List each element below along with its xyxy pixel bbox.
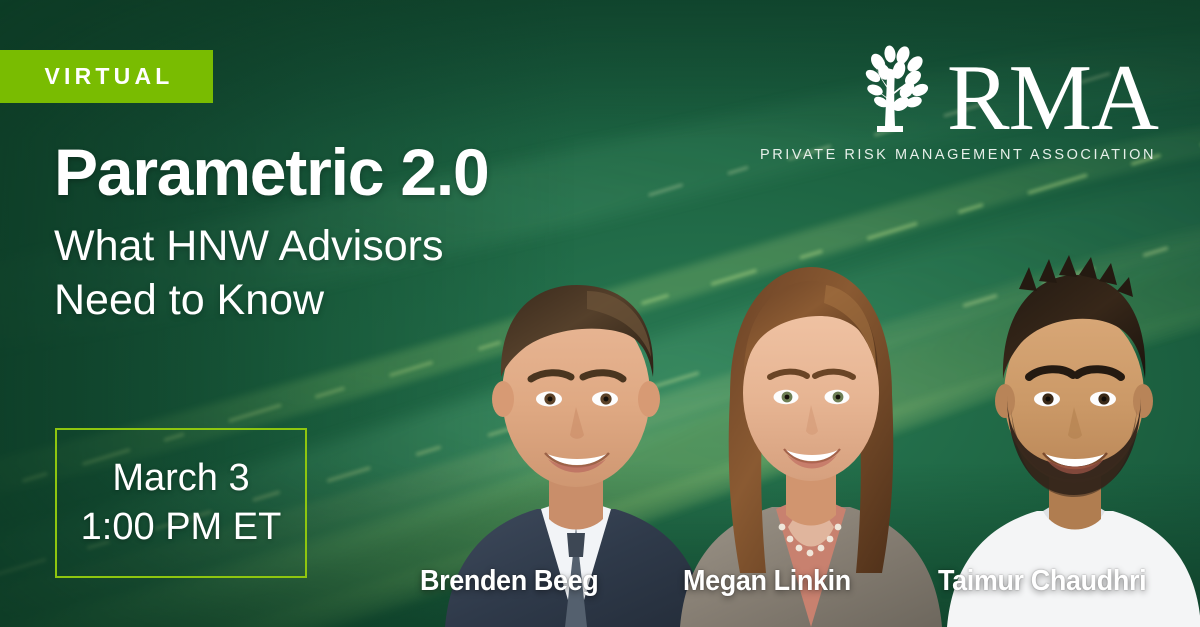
prma-logo-mark: RMA bbox=[857, 42, 1158, 138]
speaker-photo-taimur-chaudhri bbox=[945, 227, 1200, 627]
prma-logo: RMA PRIVATE RISK MANAGEMENT ASSOCIATION bbox=[760, 42, 1158, 163]
event-date: March 3 bbox=[112, 454, 249, 503]
page-title: Parametric 2.0 bbox=[54, 139, 489, 205]
event-datetime-box: March 3 1:00 PM ET bbox=[55, 428, 307, 578]
subtitle-line-2: Need to Know bbox=[54, 273, 489, 327]
headline-block: Parametric 2.0 What HNW Advisors Need to… bbox=[54, 139, 489, 327]
event-time: 1:00 PM ET bbox=[81, 503, 282, 552]
tree-icon bbox=[857, 42, 953, 138]
speaker-photo-megan-linkin bbox=[676, 227, 946, 627]
prma-tagline: PRIVATE RISK MANAGEMENT ASSOCIATION bbox=[760, 147, 1156, 163]
webinar-promo-banner: VIRTUAL Parametric 2.0 What HNW Advisors… bbox=[0, 0, 1200, 627]
prma-wordmark: RMA bbox=[947, 59, 1158, 138]
subtitle-line-1: What HNW Advisors bbox=[54, 219, 489, 273]
